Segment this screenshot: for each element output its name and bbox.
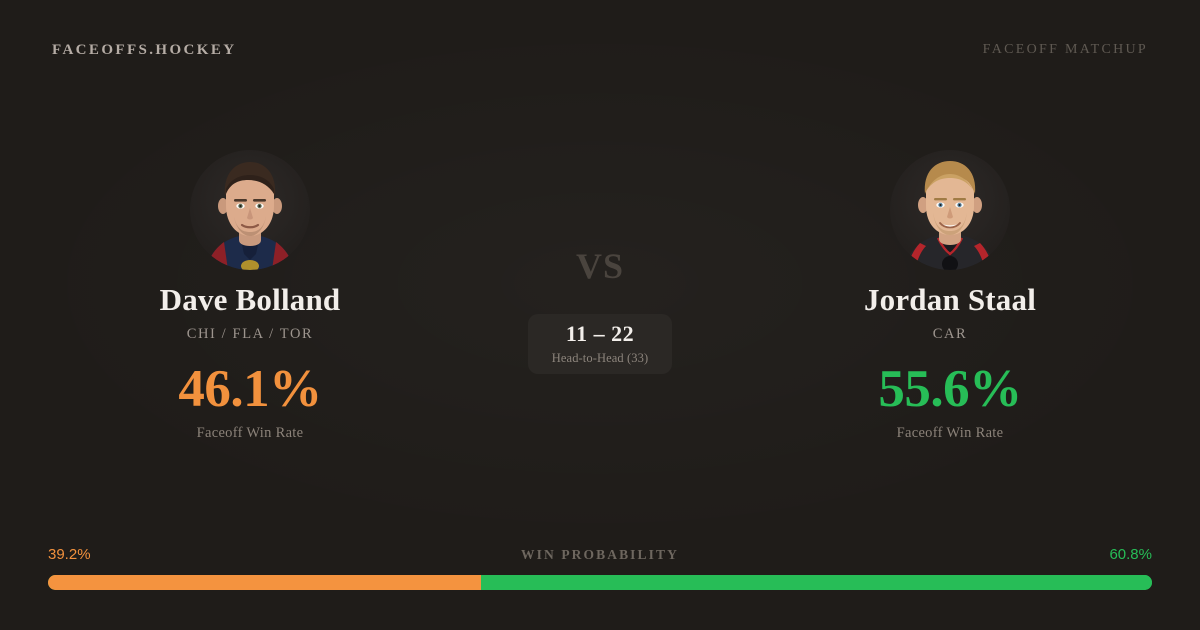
player-teams-right: CAR: [933, 326, 968, 343]
player-win-rate-label-left: Faceoff Win Rate: [197, 425, 304, 442]
player-teams-left: CHI / FLA / TOR: [187, 326, 314, 343]
header-bar: FACEOFFS.HOCKEY FACEOFF MATCHUP: [0, 0, 1200, 100]
player-headshot-left: [190, 150, 310, 270]
player-headshot-right: [890, 150, 1010, 270]
player-card-right[interactable]: Jordan Staal CAR 55.6% Faceoff Win Rate: [730, 150, 1170, 442]
player-card-left[interactable]: Dave Bolland CHI / FLA / TOR 46.1% Faceo…: [30, 150, 470, 442]
matchup-row: Dave Bolland CHI / FLA / TOR 46.1% Faceo…: [0, 150, 1200, 470]
win-probability-fill-left: [48, 575, 481, 590]
site-brand[interactable]: FACEOFFS.HOCKEY: [52, 42, 236, 59]
win-probability-bar: [48, 575, 1152, 590]
head-to-head-label: Head-to-Head (33): [552, 351, 648, 366]
player-name-left: Dave Bolland: [160, 284, 341, 317]
win-probability-section: 39.2% WIN PROBABILITY 60.8%: [48, 546, 1152, 590]
player-win-rate-right: 55.6%: [878, 363, 1021, 416]
player-win-rate-label-right: Faceoff Win Rate: [897, 425, 1004, 442]
head-to-head-box[interactable]: 11 – 22 Head-to-Head (33): [528, 314, 672, 374]
win-probability-labels: 39.2% WIN PROBABILITY 60.8%: [48, 546, 1152, 563]
win-probability-title: WIN PROBABILITY: [48, 547, 1152, 563]
header-tagline: FACEOFF MATCHUP: [983, 42, 1148, 58]
player-win-rate-left: 46.1%: [178, 363, 321, 416]
vs-label: VS: [576, 248, 624, 284]
head-to-head-score: 11 – 22: [566, 323, 634, 345]
matchup-card: FACEOFFS.HOCKEY FACEOFF MATCHUP: [0, 0, 1200, 630]
versus-block: VS 11 – 22 Head-to-Head (33): [470, 150, 730, 374]
win-probability-fill-right: [481, 575, 1152, 590]
player-name-right: Jordan Staal: [864, 284, 1036, 317]
